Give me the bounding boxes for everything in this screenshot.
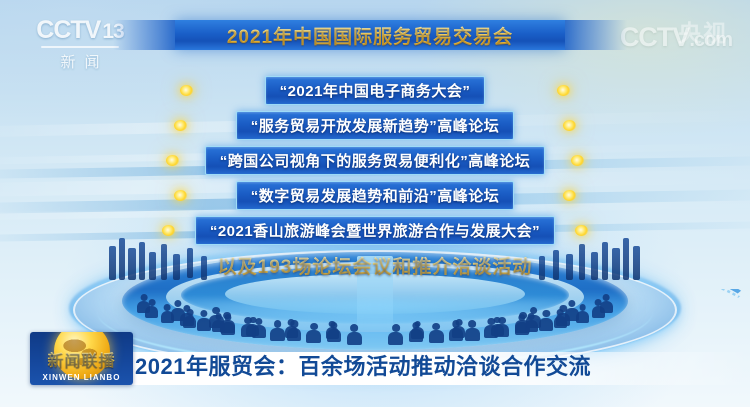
audience-figure	[241, 324, 256, 337]
bullet-glow-icon	[575, 225, 588, 236]
program-name-cn: 新闻联播	[30, 347, 133, 371]
audience-figure	[565, 308, 579, 321]
forum-chip: “跨国公司视角下的服务贸易便利化”高峰论坛	[205, 146, 546, 175]
audience-figure	[145, 306, 158, 318]
audience-figure	[220, 320, 235, 333]
watermark-text: CCTV	[620, 22, 690, 52]
forum-list-item: “2021香山旅游峰会暨世界旅游合作与发展大会”	[0, 214, 750, 246]
bullet-glow-icon	[563, 120, 576, 131]
forum-list-item: “服务贸易开放发展新趋势”高峰论坛	[0, 109, 750, 141]
program-name-en: XINWEN LIANBO	[30, 373, 133, 382]
audience-figure	[180, 313, 194, 326]
audience-figure	[287, 328, 301, 341]
bullet-glow-icon	[166, 155, 179, 166]
bullet-glow-icon	[571, 155, 584, 166]
audience-figure	[306, 330, 321, 343]
audience-figure	[465, 328, 480, 341]
audience-figure	[327, 329, 341, 342]
page-title: 2021年中国国际服务贸易交易会	[175, 20, 565, 50]
bullet-glow-icon	[174, 120, 187, 131]
forum-list-item: “2021年中国电子商务大会”	[0, 74, 750, 106]
xinwen-lianbo-logo: 新闻联播 XINWEN LIANBO	[30, 332, 133, 385]
forum-chip: “服务贸易开放发展新趋势”高峰论坛	[236, 111, 515, 140]
forum-list: “2021年中国电子商务大会”“服务贸易开放发展新趋势”高峰论坛“跨国公司视角下…	[0, 74, 750, 284]
watermark-suffix: .com	[689, 29, 732, 51]
forum-chip: “2021香山旅游峰会暨世界旅游合作与发展大会”	[195, 216, 555, 245]
audience-figure	[526, 315, 541, 328]
forum-list-item: “数字贸易发展趋势和前沿”高峰论坛	[0, 179, 750, 211]
bullet-glow-icon	[563, 190, 576, 201]
cctv13-subtitle: 新闻	[30, 51, 130, 72]
audience-figure	[429, 330, 444, 343]
audience-figure	[539, 318, 553, 331]
forum-label: “数字贸易发展趋势和前沿”高峰论坛	[251, 185, 500, 206]
audience-figure	[388, 332, 403, 345]
forum-label: 以及193场论坛会议和推介洽谈活动	[218, 252, 533, 279]
lower-third-headline: 2021年服贸会：百余场活动推动洽谈合作交流	[135, 349, 591, 381]
forum-chip: 以及193场论坛会议和推介洽谈活动	[208, 250, 543, 280]
forum-label: “服务贸易开放发展新趋势”高峰论坛	[251, 115, 500, 136]
forum-label: “跨国公司视角下的服务贸易便利化”高峰论坛	[220, 150, 531, 171]
cctv13-underline	[41, 46, 119, 48]
forum-chip: “数字贸易发展趋势和前沿”高峰论坛	[236, 181, 515, 210]
audience-figure	[494, 324, 509, 337]
forum-list-item: “跨国公司视角下的服务贸易便利化”高峰论坛	[0, 144, 750, 176]
forum-label: “2021年中国电子商务大会”	[280, 80, 471, 101]
bullet-glow-icon	[174, 190, 187, 201]
audience-figure	[449, 328, 463, 341]
bullet-glow-icon	[162, 225, 175, 236]
audience-figure	[600, 301, 613, 313]
audience-figure	[347, 332, 362, 345]
audience-figure	[270, 328, 285, 341]
bullet-glow-icon	[180, 85, 193, 96]
forum-chip: “2021年中国电子商务大会”	[265, 76, 486, 105]
forum-list-item: 以及193场论坛会议和推介洽谈活动	[0, 249, 750, 281]
cctv13-letters: CCTV	[36, 16, 100, 44]
audience-figure	[409, 329, 423, 342]
title-banner: 2021年中国国际服务贸易交易会	[175, 20, 565, 50]
broadcast-frame: CCTV13 新闻 央视 CCTV.com 2021年中国国际服务贸易交易会 “…	[0, 0, 750, 407]
forum-label: “2021香山旅游峰会暨世界旅游合作与发展大会”	[210, 220, 540, 241]
bullet-glow-icon	[557, 85, 570, 96]
cctv-com-watermark: CCTV.com	[620, 22, 732, 53]
